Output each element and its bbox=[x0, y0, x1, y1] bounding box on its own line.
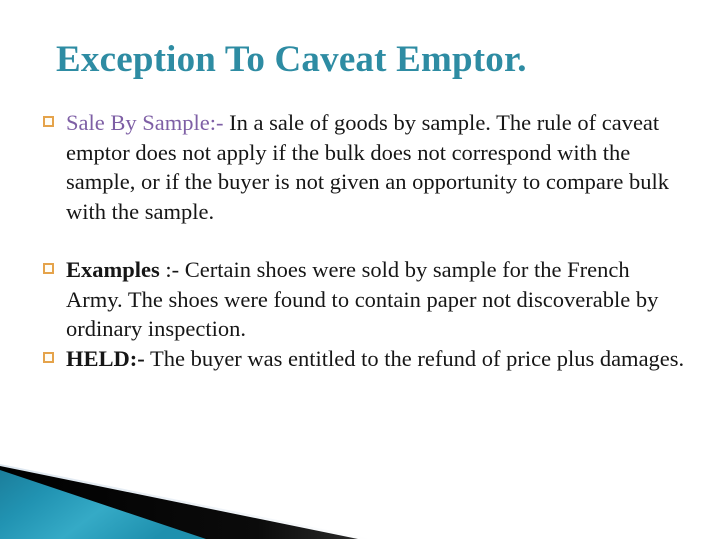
list-item-lead: Sale By Sample:- bbox=[66, 110, 223, 135]
slide: Exception To Caveat Emptor. Sale By Samp… bbox=[0, 0, 720, 539]
hollow-square-bullet-icon bbox=[43, 263, 54, 274]
list-item-lead: Examples bbox=[66, 257, 160, 282]
hollow-square-bullet-icon bbox=[43, 116, 54, 127]
corner-wedge-graphic bbox=[0, 444, 720, 539]
list-item-lead: HELD:- bbox=[66, 346, 145, 371]
list-item: HELD:- The buyer was entitled to the ref… bbox=[38, 344, 688, 374]
wedge-pale-sliver bbox=[0, 464, 372, 539]
wedge-teal-shape bbox=[0, 470, 206, 539]
page-title: Exception To Caveat Emptor. bbox=[56, 38, 527, 81]
wedge-black-band bbox=[0, 466, 358, 539]
bullet-list: Sale By Sample:- In a sale of goods by s… bbox=[38, 108, 688, 373]
hollow-square-bullet-icon bbox=[43, 352, 54, 363]
list-item: Sale By Sample:- In a sale of goods by s… bbox=[38, 108, 688, 226]
list-item: Examples :- Certain shoes were sold by s… bbox=[38, 255, 688, 344]
list-item-body: The buyer was entitled to the refund of … bbox=[145, 346, 684, 371]
